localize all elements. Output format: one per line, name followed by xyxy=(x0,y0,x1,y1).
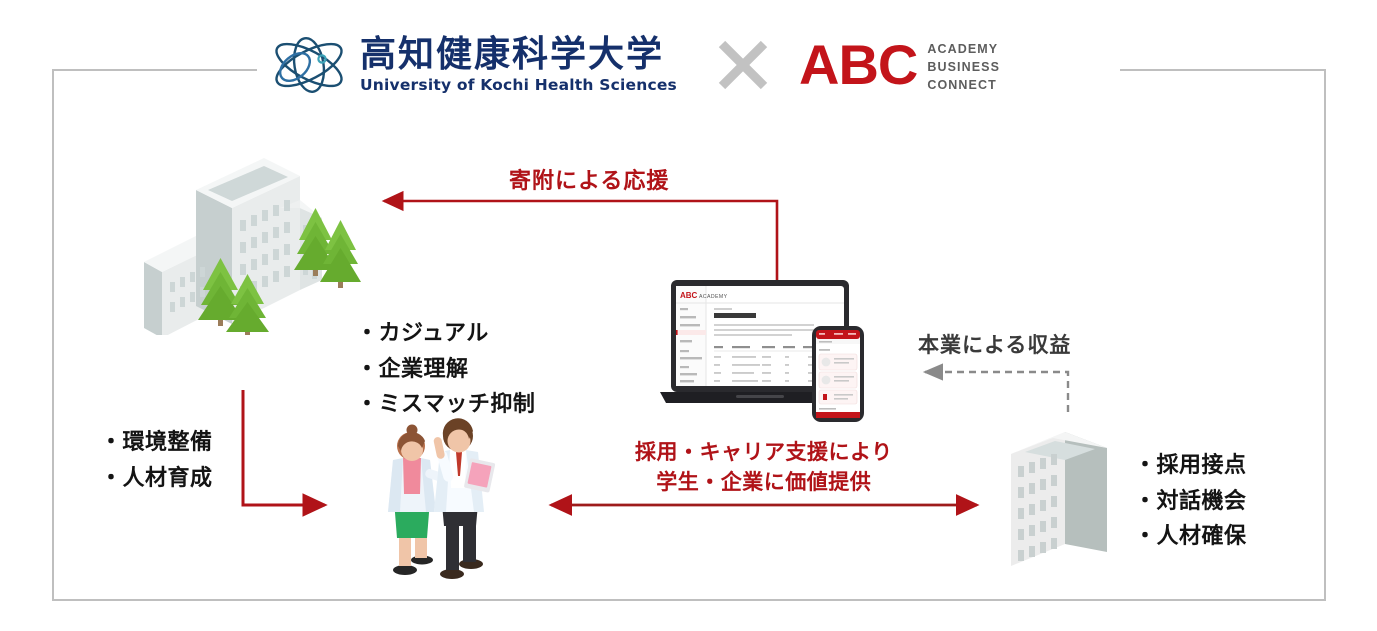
laptop-screen-brand: ABC xyxy=(680,291,698,300)
partner-logo: ABC ACADEMY BUSINESS CONNECT xyxy=(799,36,1000,94)
university-name-jp: 高知健康科学大学 xyxy=(360,37,677,73)
diagram-canvas: 高知健康科学大学 University of Kochi Health Scie… xyxy=(0,0,1377,631)
company-benefit-item: ・対話機会 xyxy=(1134,484,1247,520)
laptop-screen-brand-sub: ACADEMY xyxy=(699,294,728,300)
partner-tagline-line-1: ACADEMY xyxy=(927,40,1000,58)
university-role-item: ・環境整備 xyxy=(100,425,213,461)
frame-border-right xyxy=(1324,69,1326,601)
students-lab-coats-icon xyxy=(370,408,515,580)
university-logo: 高知健康科学大学 University of Kochi Health Scie… xyxy=(270,34,677,96)
value-flow-label-line-2: 学生・企業に価値提供 xyxy=(635,468,893,498)
frame-border-bottom xyxy=(52,599,1326,601)
university-roles-list: ・環境整備 ・人材育成 xyxy=(100,425,213,496)
student-male-icon xyxy=(433,418,495,579)
student-benefit-item: ・ミスマッチ抑制 xyxy=(356,387,535,423)
cross-x-icon xyxy=(715,37,771,93)
company-benefits-list: ・採用接点 ・対話機会 ・人材確保 xyxy=(1134,448,1247,555)
frame-border-top-right xyxy=(1120,69,1326,71)
company-benefit-item: ・人材確保 xyxy=(1134,519,1247,555)
value-flow-label-line-1: 採用・キャリア支援により xyxy=(635,438,893,468)
partnership-logo-row: 高知健康科学大学 University of Kochi Health Scie… xyxy=(270,22,1030,108)
company-benefit-item: ・採用接点 xyxy=(1134,448,1247,484)
university-role-item: ・人材育成 xyxy=(100,461,213,497)
office-building-icon xyxy=(1003,424,1115,576)
student-benefit-item: ・企業理解 xyxy=(356,352,535,388)
support-flow-arrow xyxy=(243,390,325,505)
revenue-flow-arrow xyxy=(925,372,1068,412)
donation-flow-label: 寄附による応援 xyxy=(509,163,669,195)
laptop-phone-icon: ABC ACADEMY xyxy=(658,272,893,432)
partner-logo-mark: ABC xyxy=(799,37,917,93)
student-benefits-list: ・カジュアル ・企業理解 ・ミスマッチ抑制 xyxy=(356,316,535,423)
university-name-en: University of Kochi Health Sciences xyxy=(360,78,677,94)
partner-tagline-line-3: CONNECT xyxy=(927,76,1000,94)
frame-border-top-left xyxy=(52,69,257,71)
partner-logo-tagline: ACADEMY BUSINESS CONNECT xyxy=(927,40,1000,94)
revenue-flow-label: 本業による収益 xyxy=(918,329,1071,359)
university-logo-text: 高知健康科学大学 University of Kochi Health Scie… xyxy=(360,37,677,94)
value-flow-label: 採用・キャリア支援により 学生・企業に価値提供 xyxy=(635,438,893,498)
university-building-icon xyxy=(140,150,370,335)
student-benefit-item: ・カジュアル xyxy=(356,316,535,352)
partner-tagline-line-2: BUSINESS xyxy=(927,58,1000,76)
frame-border-left xyxy=(52,69,54,601)
atom-orbit-icon xyxy=(270,34,348,96)
